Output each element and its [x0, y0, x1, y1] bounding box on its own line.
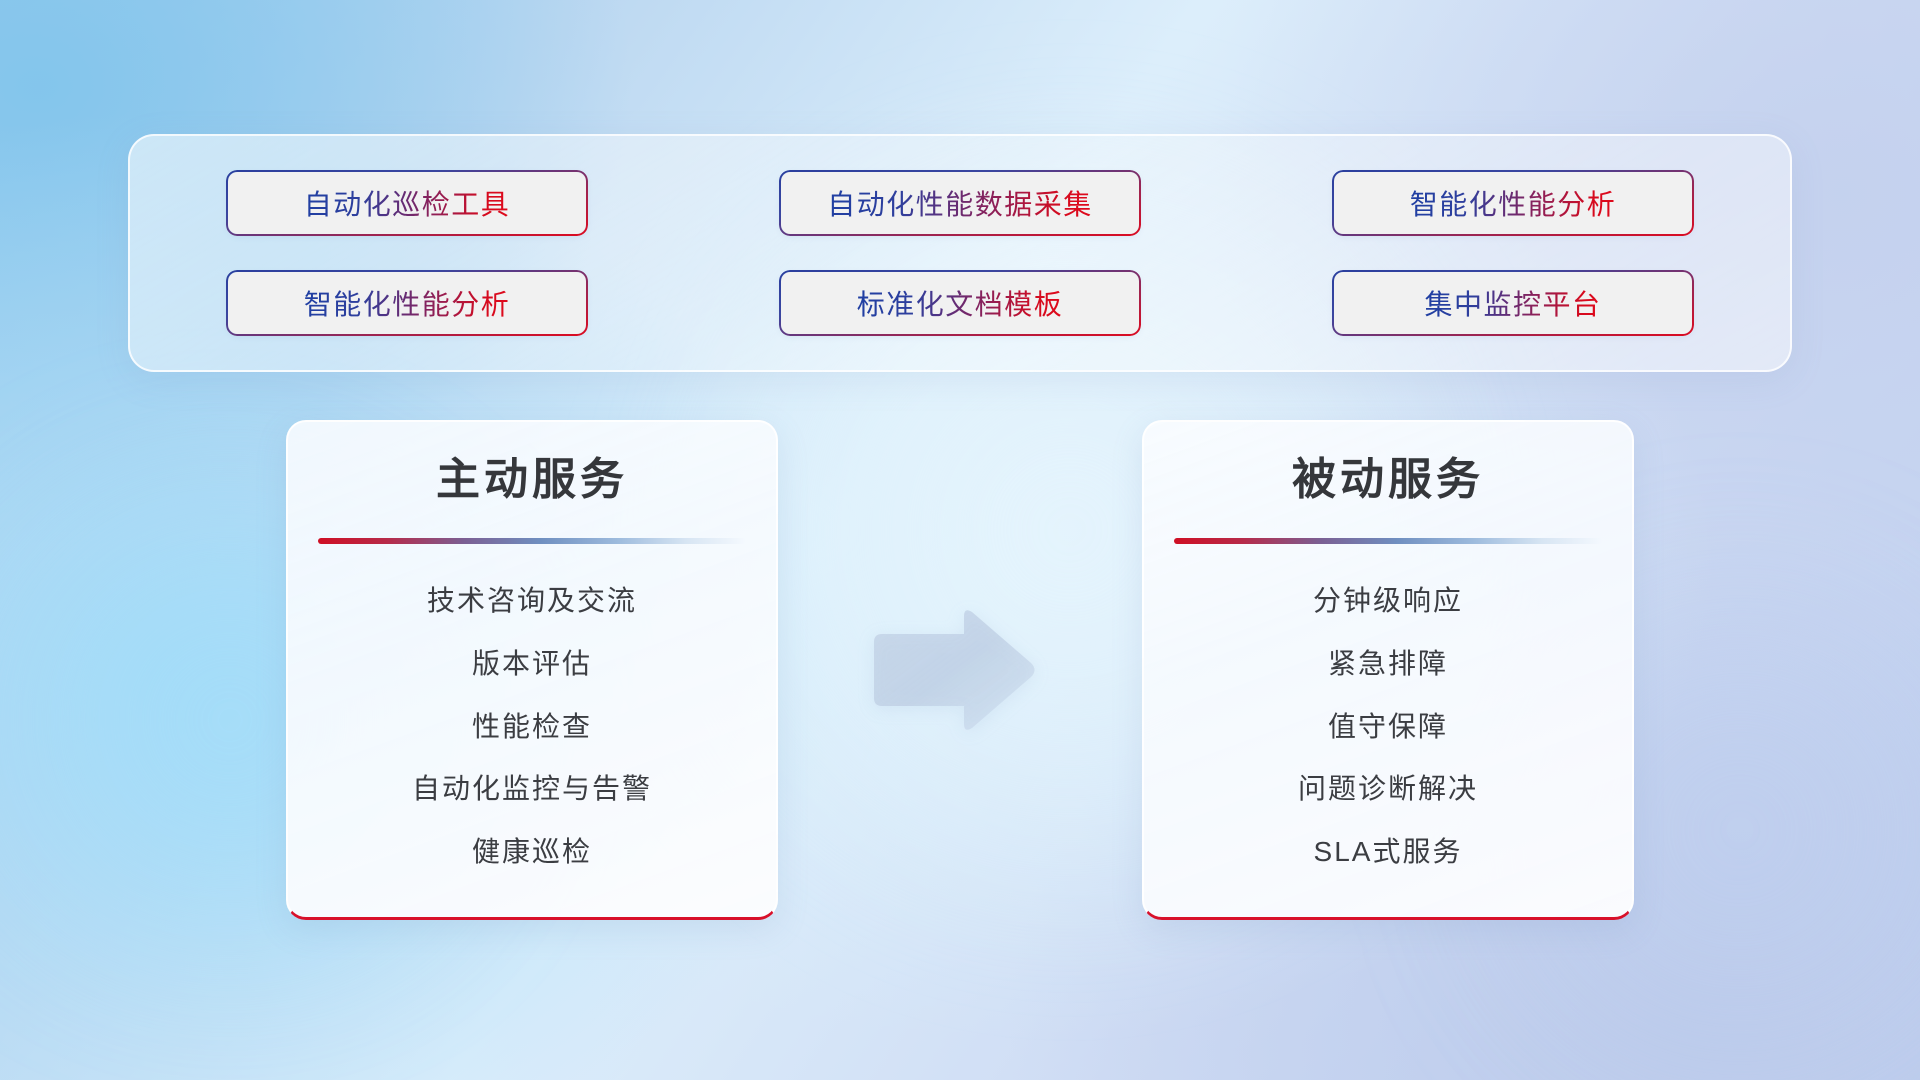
- capability-tag[interactable]: 标准化文档模板: [781, 272, 1139, 334]
- capability-tag[interactable]: 自动化巡检工具: [228, 172, 586, 234]
- service-card-title: 被动服务: [1174, 456, 1602, 504]
- list-item: 性能检查: [472, 710, 592, 744]
- capability-tag-label: 智能化性能分析: [304, 283, 511, 323]
- arrow-right-icon: [868, 606, 1038, 734]
- capability-tag[interactable]: 集中监控平台: [1334, 272, 1692, 334]
- list-item: 紧急排障: [1328, 647, 1448, 681]
- list-item: 值守保障: [1328, 710, 1448, 744]
- capability-tag-label: 智能化性能分析: [1410, 183, 1617, 223]
- capability-tag-label: 自动化性能数据采集: [827, 183, 1093, 223]
- service-card-reactive: 被动服务 分钟级响应 紧急排障 值守保障 问题诊断解决 SLA式服务: [1142, 420, 1634, 920]
- capability-tag[interactable]: 智能化性能分析: [228, 272, 586, 334]
- capability-tag-label: 标准化文档模板: [857, 283, 1064, 323]
- slide-stage: 自动化巡检工具 自动化性能数据采集 智能化性能分析 智能化性能分析 标准化文档模…: [0, 0, 1920, 1080]
- capability-tag[interactable]: 自动化性能数据采集: [781, 172, 1139, 234]
- capability-tag-panel: 自动化巡检工具 自动化性能数据采集 智能化性能分析 智能化性能分析 标准化文档模…: [128, 134, 1792, 372]
- list-item: 技术咨询及交流: [427, 584, 637, 618]
- list-item: 问题诊断解决: [1298, 772, 1478, 806]
- service-card-proactive: 主动服务 技术咨询及交流 版本评估 性能检查 自动化监控与告警 健康巡检: [286, 420, 778, 920]
- service-card-list: 分钟级响应 紧急排障 值守保障 问题诊断解决 SLA式服务: [1174, 584, 1602, 868]
- service-card-title: 主动服务: [318, 456, 746, 504]
- service-card-divider: [318, 538, 746, 544]
- capability-tag-label: 集中监控平台: [1424, 283, 1601, 323]
- service-card-list: 技术咨询及交流 版本评估 性能检查 自动化监控与告警 健康巡检: [318, 584, 746, 868]
- capability-tag-grid: 自动化巡检工具 自动化性能数据采集 智能化性能分析 智能化性能分析 标准化文档模…: [228, 172, 1692, 334]
- list-item: 版本评估: [472, 647, 592, 681]
- list-item: 健康巡检: [472, 835, 592, 869]
- capability-tag-label: 自动化巡检工具: [304, 183, 511, 223]
- capability-tag[interactable]: 智能化性能分析: [1334, 172, 1692, 234]
- list-item: 自动化监控与告警: [412, 772, 652, 806]
- service-card-divider: [1174, 538, 1602, 544]
- list-item: 分钟级响应: [1313, 584, 1463, 618]
- list-item: SLA式服务: [1314, 835, 1463, 869]
